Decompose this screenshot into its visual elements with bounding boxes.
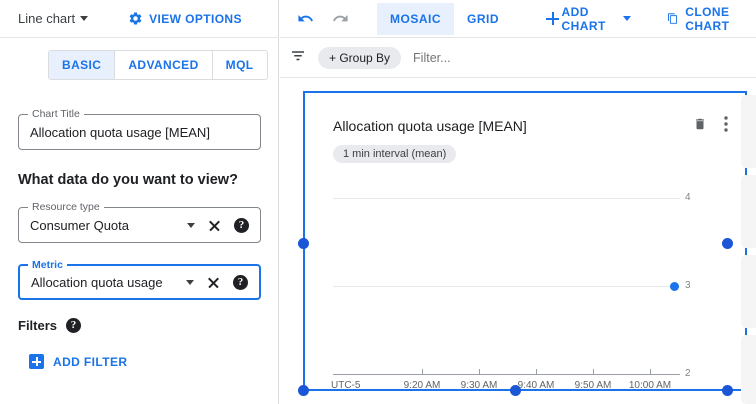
adjacent-card-4[interactable] xyxy=(741,335,756,404)
x-tick-mark-2 xyxy=(536,369,537,374)
gridline-y3 xyxy=(333,286,680,287)
view-mode-mosaic[interactable]: MOSAIC xyxy=(377,3,454,35)
chevron-down-icon xyxy=(623,16,631,21)
y-tick-label-2: 2 xyxy=(685,368,691,379)
tab-mql[interactable]: MQL xyxy=(213,51,267,79)
redo-icon xyxy=(332,10,349,27)
chevron-down-icon[interactable] xyxy=(187,223,195,228)
help-icon[interactable]: ? xyxy=(234,218,249,233)
resize-handle-bottom-left[interactable] xyxy=(298,385,309,396)
gridline-y4 xyxy=(333,198,680,199)
redo-button[interactable] xyxy=(332,10,349,27)
chart-card-title: Allocation quota usage [MEAN] xyxy=(333,118,527,134)
filters-section-header: Filters ? xyxy=(18,318,81,333)
copy-icon xyxy=(667,11,679,26)
plus-icon xyxy=(546,12,556,25)
chart-title-input[interactable]: Chart Title Allocation quota usage [MEAN… xyxy=(18,114,261,150)
tab-advanced[interactable]: ADVANCED xyxy=(115,51,212,79)
resize-handle-bottom-right[interactable] xyxy=(722,385,733,396)
undo-icon xyxy=(297,10,314,27)
x-tick-mark-0 xyxy=(422,369,423,374)
chart-toolbar: MOSAIC GRID ADD CHART CLONE CHART xyxy=(280,0,756,38)
clear-metric-icon[interactable] xyxy=(207,276,220,289)
chart-config-sidebar: Line chart VIEW OPTIONS BASIC ADVANCED M… xyxy=(0,0,279,404)
view-options-button[interactable]: VIEW OPTIONS xyxy=(128,11,242,26)
help-icon[interactable]: ? xyxy=(233,275,248,290)
interval-chip: 1 min interval (mean) xyxy=(333,145,456,163)
config-tabs: BASIC ADVANCED MQL xyxy=(48,50,268,80)
resize-handle-left[interactable] xyxy=(298,238,309,249)
chart-card[interactable]: Allocation quota usage [MEAN] 1 min inte… xyxy=(303,91,747,391)
monitoring-chart-editor: Line chart VIEW OPTIONS BASIC ADVANCED M… xyxy=(0,0,756,404)
add-filter-button[interactable]: ADD FILTER xyxy=(29,354,127,369)
view-mode-grid[interactable]: GRID xyxy=(454,3,512,35)
filter-list-icon xyxy=(289,46,307,64)
chart-plot-area: 4 3 2 UTC-5 9:20 AM 9:30 AM 9:40 AM 9:50… xyxy=(305,173,749,393)
x-tick-label-3: 9:50 AM xyxy=(575,380,612,391)
gear-icon xyxy=(128,11,143,26)
x-tick-mark-3 xyxy=(593,369,594,374)
chart-card-actions xyxy=(693,116,728,137)
resource-type-label: Resource type xyxy=(28,201,104,213)
chart-title-label: Chart Title xyxy=(28,108,84,120)
clone-chart-label: CLONE CHART xyxy=(685,5,756,33)
chevron-down-icon[interactable] xyxy=(186,280,194,285)
group-by-label: + Group By xyxy=(329,51,390,65)
clear-resource-type-icon[interactable] xyxy=(208,219,221,232)
metric-value: Allocation quota usage xyxy=(31,275,163,290)
metric-label: Metric xyxy=(28,259,67,271)
clone-chart-button[interactable]: CLONE CHART xyxy=(667,5,756,33)
x-tick-label-0: 9:20 AM xyxy=(404,380,441,391)
group-by-chip[interactable]: + Group By xyxy=(318,47,401,69)
more-vert-icon xyxy=(724,116,728,132)
add-chart-button[interactable]: ADD CHART xyxy=(546,5,631,33)
x-tick-label-4: 10:00 AM xyxy=(629,380,671,391)
plus-icon xyxy=(29,354,44,369)
x-axis-line xyxy=(333,374,680,375)
view-mode-toggle: MOSAIC GRID xyxy=(377,3,512,35)
trash-icon xyxy=(693,117,707,131)
add-chart-label: ADD CHART xyxy=(562,5,617,33)
resize-handle-right[interactable] xyxy=(722,238,733,249)
data-section-heading: What data do you want to view? xyxy=(18,172,238,188)
metric-controls: ? xyxy=(186,275,259,290)
help-icon[interactable]: ? xyxy=(66,318,81,333)
delete-chart-button[interactable] xyxy=(693,117,707,136)
x-tick-mark-1 xyxy=(479,369,480,374)
y-tick-label-3: 3 xyxy=(685,280,691,291)
x-axis-timezone-label: UTC-5 xyxy=(331,380,360,391)
chart-preview-panel: MOSAIC GRID ADD CHART CLONE CHART xyxy=(280,0,756,404)
resource-type-controls: ? xyxy=(187,218,260,233)
adjacent-card-2[interactable] xyxy=(741,175,756,248)
x-tick-label-2: 9:40 AM xyxy=(518,380,555,391)
undo-button[interactable] xyxy=(297,10,314,27)
metric-select[interactable]: Metric Allocation quota usage ? xyxy=(18,264,261,300)
filter-input[interactable] xyxy=(413,51,613,65)
tab-basic[interactable]: BASIC xyxy=(49,51,115,79)
resource-type-value: Consumer Quota xyxy=(30,218,129,233)
resize-handle-bottom[interactable] xyxy=(510,385,521,396)
adjacent-card-3[interactable] xyxy=(741,255,756,328)
add-filter-label: ADD FILTER xyxy=(53,355,127,369)
view-options-label: VIEW OPTIONS xyxy=(149,12,242,26)
chart-title-value: Allocation quota usage [MEAN] xyxy=(30,125,210,140)
resource-type-select[interactable]: Resource type Consumer Quota ? xyxy=(18,207,261,243)
y-tick-label-4: 4 xyxy=(685,192,691,203)
x-tick-mark-4 xyxy=(650,369,651,374)
chart-type-label: Line chart xyxy=(18,11,75,26)
adjacent-card-1[interactable] xyxy=(741,95,756,168)
chart-type-dropdown[interactable]: Line chart xyxy=(18,11,88,26)
chart-more-options-button[interactable] xyxy=(724,116,728,137)
filter-funnel-icon[interactable] xyxy=(289,46,307,69)
chevron-down-icon xyxy=(80,16,88,21)
filters-title: Filters xyxy=(18,318,57,333)
x-tick-label-1: 9:30 AM xyxy=(461,380,498,391)
chart-filter-bar: + Group By xyxy=(280,38,756,78)
sidebar-toolbar: Line chart VIEW OPTIONS xyxy=(0,0,279,38)
data-point-series-0 xyxy=(670,282,679,291)
